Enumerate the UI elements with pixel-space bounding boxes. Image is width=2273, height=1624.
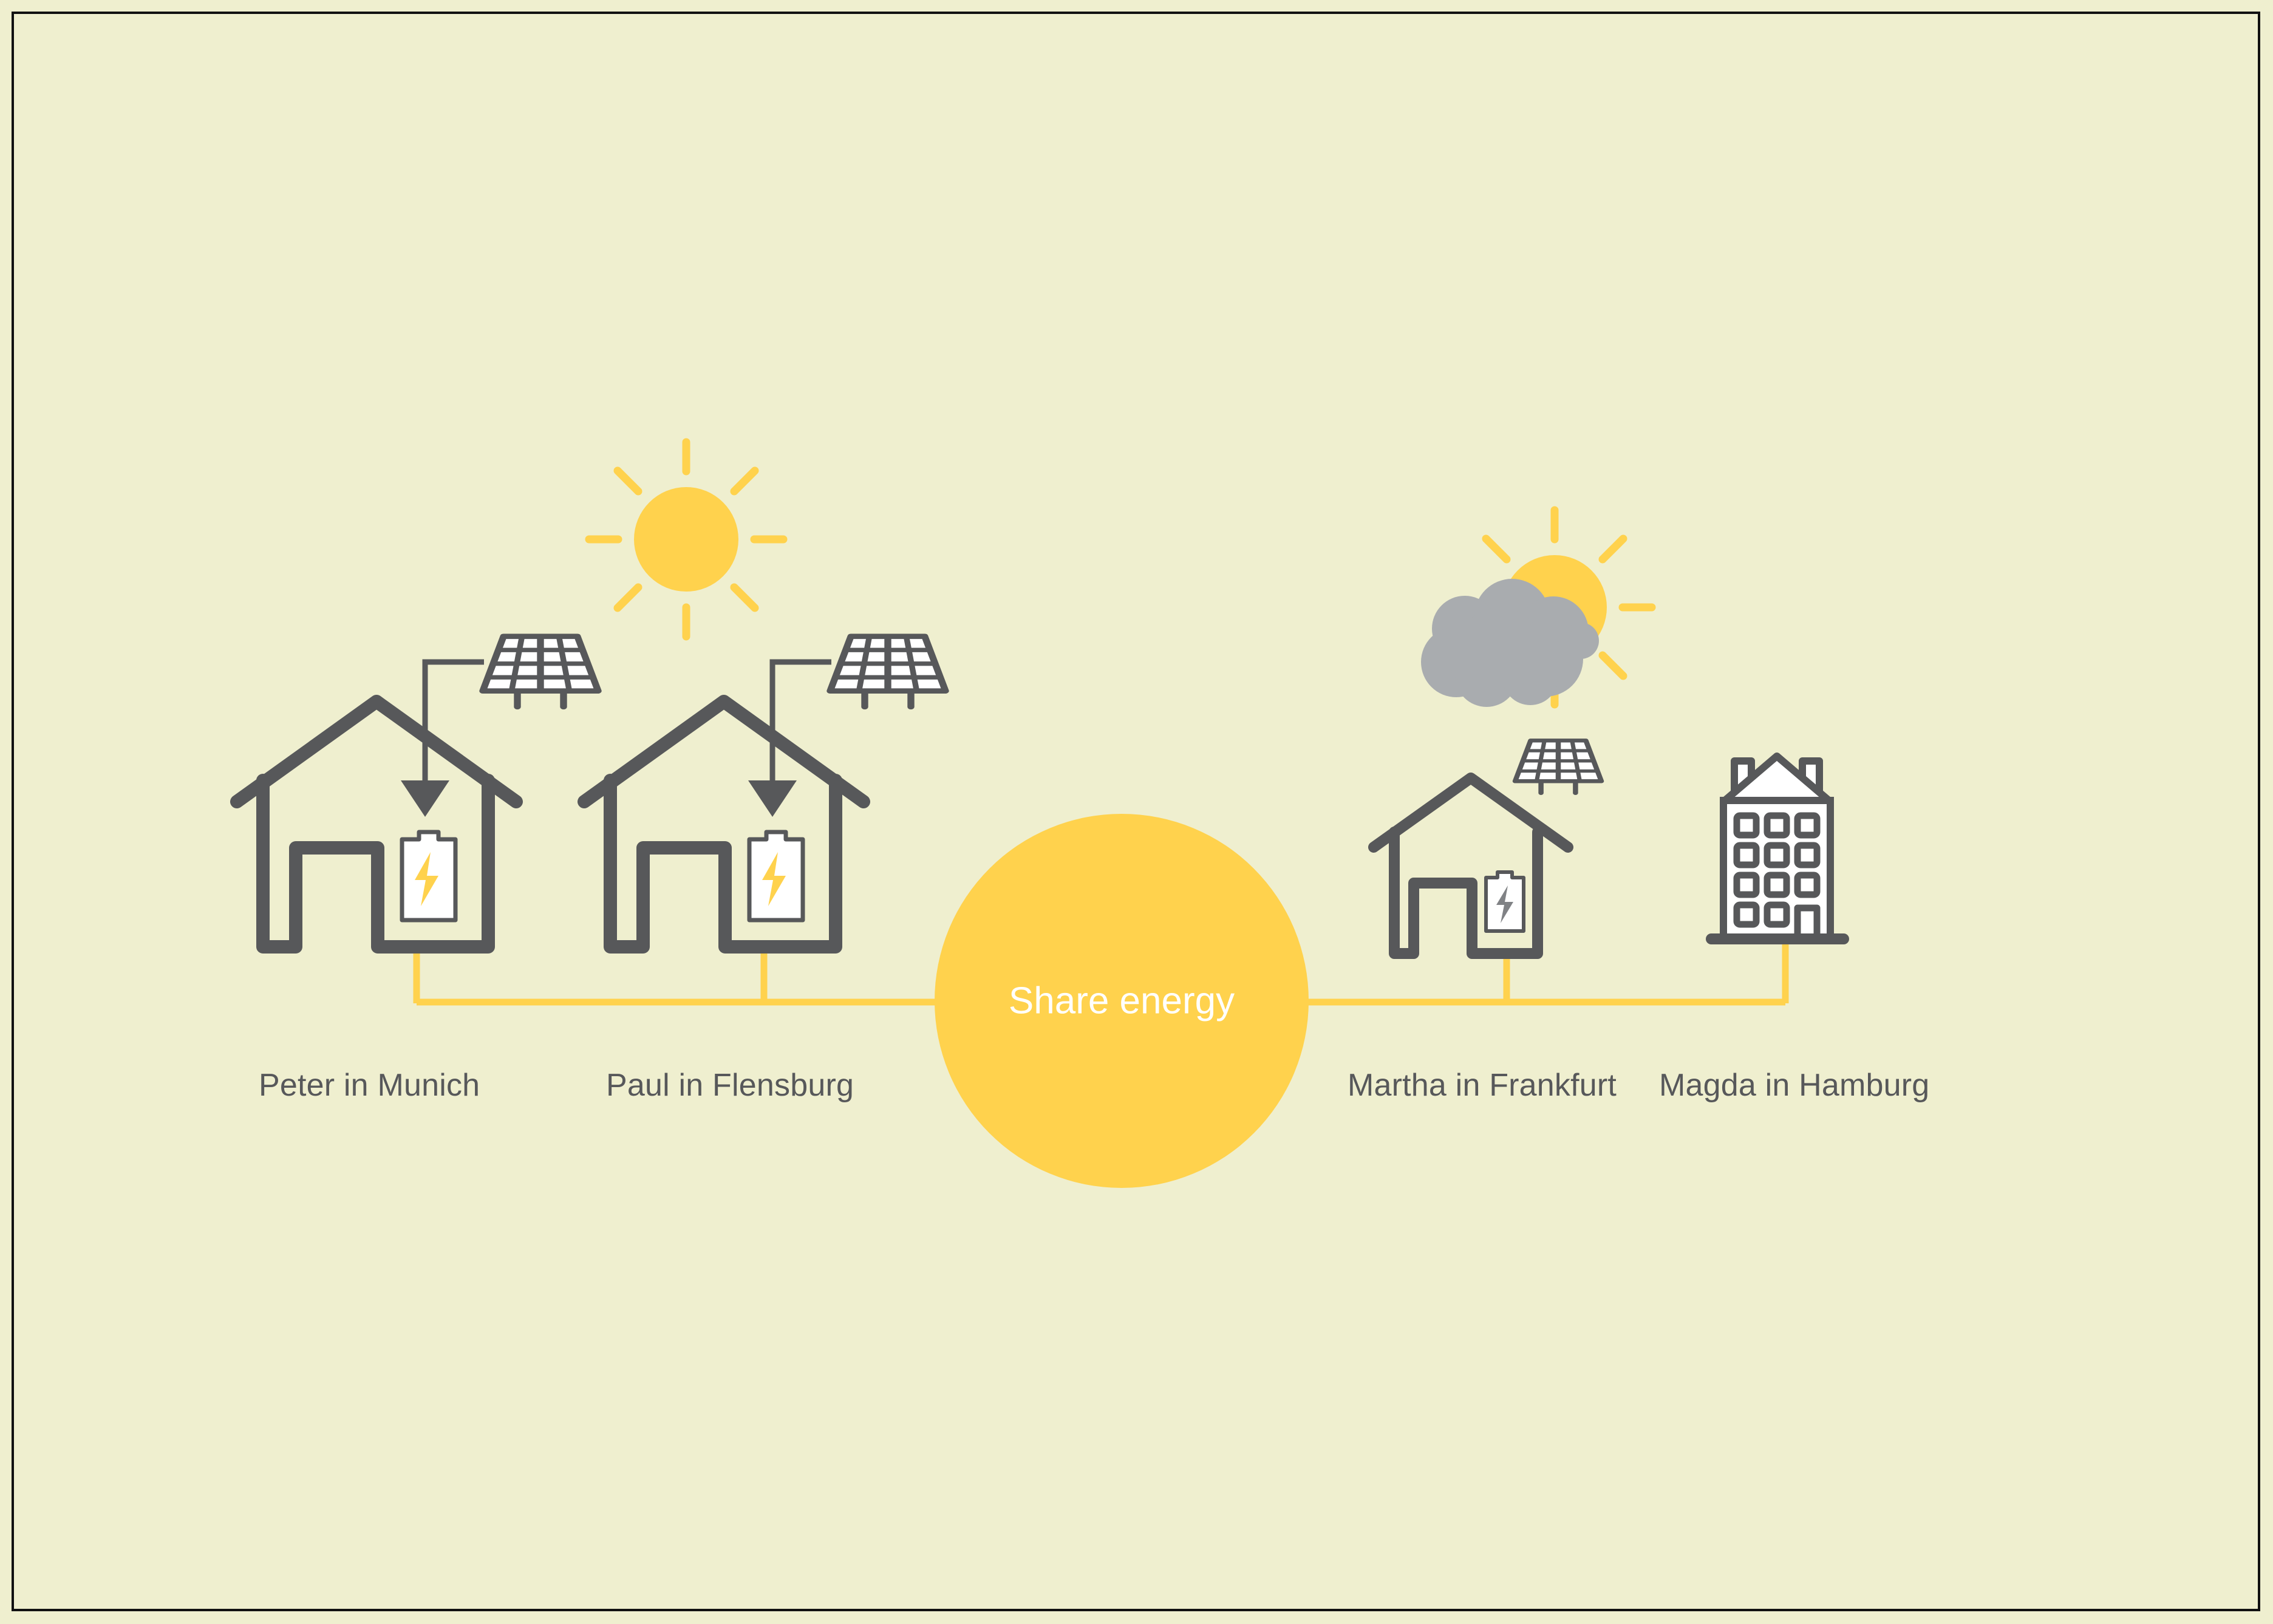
battery-icon xyxy=(402,832,455,920)
label-martha: Martha in Frankfurt xyxy=(1348,1067,1617,1104)
charging-wire xyxy=(401,662,484,817)
charging-wire xyxy=(748,662,831,817)
node-peter[interactable] xyxy=(237,636,598,947)
share-energy-hub[interactable]: Share energy xyxy=(935,814,1309,1188)
house-roof xyxy=(237,701,516,802)
solar-panel-icon xyxy=(1515,740,1601,793)
battery-icon xyxy=(1486,872,1524,931)
sun-icon xyxy=(589,442,783,636)
node-martha[interactable] xyxy=(1374,740,1601,954)
node-paul[interactable] xyxy=(584,636,946,947)
diagram-canvas: Share energy Peter in Munich Paul in Fle… xyxy=(0,0,2273,1624)
hub-label: Share energy xyxy=(1009,980,1235,1022)
label-paul: Paul in Flensburg xyxy=(606,1067,854,1104)
node-magda[interactable] xyxy=(1711,756,1844,939)
battery-icon xyxy=(749,832,803,920)
label-magda: Magda in Hamburg xyxy=(1659,1067,1929,1104)
house-roof xyxy=(584,701,864,802)
energy-sharing-diagram: Share energy xyxy=(0,0,2273,1624)
solar-panel-icon xyxy=(483,636,598,707)
solar-panel-icon xyxy=(830,636,946,707)
label-peter: Peter in Munich xyxy=(259,1067,480,1104)
sun-cloud-icon xyxy=(1421,510,1652,707)
